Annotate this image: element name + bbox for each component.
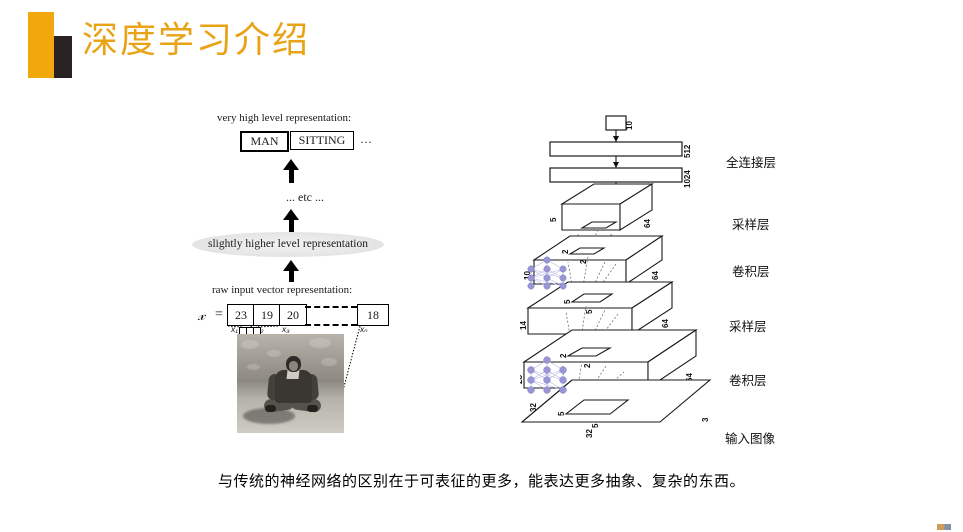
vector-cell-1: 23 — [227, 304, 255, 326]
svg-text:2: 2 — [583, 363, 592, 368]
stage-label-pooling-2: 采样层 — [732, 214, 770, 233]
vector-symbol: 𝓍 — [198, 307, 205, 325]
svg-text:64: 64 — [651, 271, 660, 280]
title-accent-bar-dark — [54, 36, 72, 78]
token-box-sitting: SITTING — [290, 131, 354, 150]
stage-label-fully-connected: 全连接层 — [726, 152, 776, 171]
svg-text:5: 5 — [549, 217, 558, 222]
svg-text:10: 10 — [625, 121, 634, 130]
very-high-level-label: very high level representation: — [217, 112, 351, 124]
vector-cell-n: 18 — [357, 304, 389, 326]
vector-subscript-1: x₁ — [231, 324, 238, 334]
vector-cell-gap-dashed — [305, 306, 357, 326]
slide-canvas: 深度学习介绍 very high level representation: M… — [0, 0, 963, 532]
svg-text:64: 64 — [661, 319, 670, 328]
svg-text:2: 2 — [561, 249, 570, 254]
representation-hierarchy-figure: very high level representation: MAN SITT… — [190, 112, 410, 442]
stage-label-conv-1: 卷积层 — [729, 370, 767, 389]
raw-input-vector-label: raw input vector representation: — [212, 284, 352, 296]
corner-watermark — [937, 524, 951, 530]
stage-label-pooling-1: 采样层 — [729, 316, 767, 335]
slightly-higher-level-label: slightly higher level representation — [192, 232, 384, 257]
vector-subscript-3: x₃ — [282, 324, 290, 334]
svg-text:64: 64 — [643, 219, 652, 228]
svg-text:1024: 1024 — [683, 170, 692, 188]
input-image-photo — [237, 334, 344, 433]
page-title: 深度学习介绍 — [82, 16, 310, 64]
token-ellipsis: … — [360, 132, 372, 147]
svg-text:2: 2 — [579, 259, 588, 264]
vector-cell-2: 19 — [253, 304, 281, 326]
vector-equals: = — [215, 307, 223, 323]
title-accent-bar-orange — [28, 12, 54, 78]
svg-text:5: 5 — [585, 309, 594, 314]
vector-subscript-n: xₙ — [360, 324, 368, 335]
svg-text:32: 32 — [585, 429, 594, 438]
svg-text:5: 5 — [563, 299, 572, 304]
stage-label-conv-2: 卷积层 — [732, 261, 770, 280]
neural-net-node-icon-lower — [523, 355, 573, 399]
svg-text:3: 3 — [701, 417, 710, 422]
slide-title-bar: 深度学习介绍 — [0, 0, 963, 90]
stage-label-input-image: 输入图像 — [725, 428, 775, 447]
svg-text:5: 5 — [557, 411, 566, 416]
svg-text:32: 32 — [529, 403, 538, 412]
svg-text:14: 14 — [520, 321, 528, 330]
etc-label: ... etc ... — [250, 190, 360, 205]
slide-caption: 与传统的神经网络的区别在于可表征的更多，能表达更多抽象、复杂的东西。 — [0, 470, 963, 491]
token-box-man: MAN — [240, 131, 289, 152]
vector-cell-3: 20 — [279, 304, 307, 326]
input-vector-row: 𝓍 = 23 19 20 18 x₁ x₂ x₃ xₙ — [198, 304, 388, 328]
neural-net-node-icon-upper — [523, 255, 573, 291]
svg-text:512: 512 — [683, 144, 692, 158]
svg-text:5: 5 — [591, 423, 600, 428]
slightly-higher-level-ellipse: slightly higher level representation — [192, 232, 384, 257]
